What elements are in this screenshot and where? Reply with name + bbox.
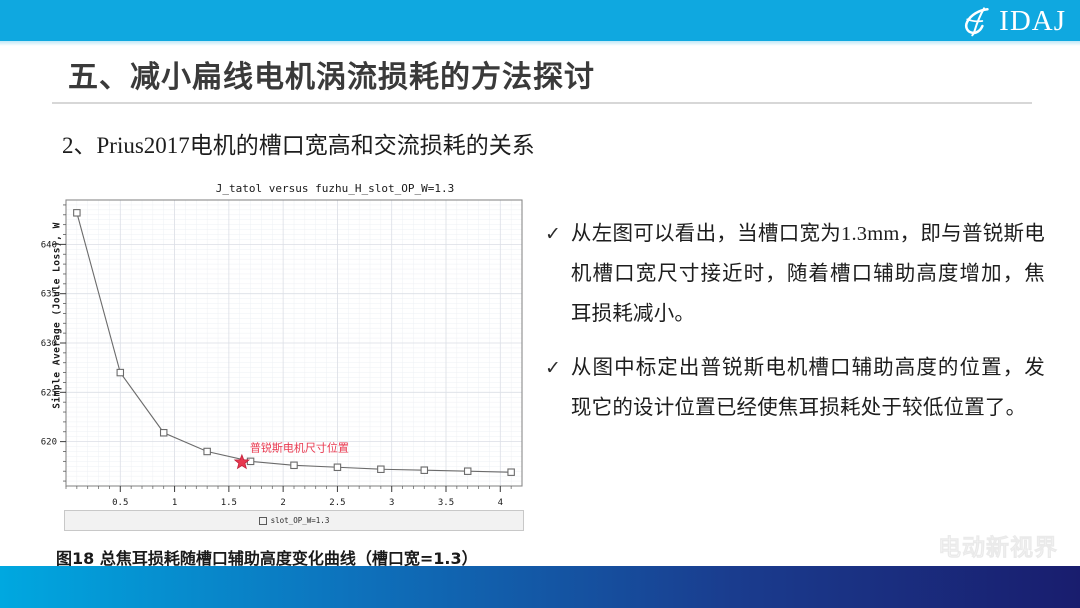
x-tick-label: 2 xyxy=(280,498,285,508)
data-point-marker[interactable] xyxy=(421,467,427,473)
y-tick-label: 625 xyxy=(41,388,57,398)
watermark: 电动新视界 xyxy=(896,530,1058,566)
data-point-marker[interactable] xyxy=(291,462,297,468)
watermark-text: 电动新视界 xyxy=(938,534,1058,562)
chart-title: J_tatol versus fuzhu_H_slot_OP_W=1.3 xyxy=(140,182,530,195)
idaj-logo: IDAJ xyxy=(962,4,1066,38)
data-point-marker[interactable] xyxy=(247,458,253,464)
data-point-marker[interactable] xyxy=(161,430,167,436)
y-tick-label: 640 xyxy=(41,240,57,250)
x-tick-label: 1 xyxy=(172,498,177,508)
bottom-banner xyxy=(0,566,1080,608)
bullet-text: 从图中标定出普锐斯电机槽口辅助高度的位置，发现它的设计位置已经使焦耳损耗处于较低… xyxy=(571,348,1045,428)
y-tick-label: 620 xyxy=(41,438,57,448)
chart-figure: J_tatol versus fuzhu_H_slot_OP_W=1.3 Sim… xyxy=(22,182,530,534)
y-tick-label: 630 xyxy=(41,339,57,349)
x-tick-label: 4 xyxy=(498,498,503,508)
bullet-text: 从左图可以看出，当槽口宽为1.3mm，即与普锐斯电机槽口宽尺寸接近时，随着槽口辅… xyxy=(571,214,1045,334)
chart-legend: slot_OP_W=1.3 xyxy=(64,510,524,531)
check-icon: ✓ xyxy=(545,214,561,254)
page-title: 五、减小扁线电机涡流损耗的方法探讨 xyxy=(68,52,595,96)
slide: IDAJ 五、减小扁线电机涡流损耗的方法探讨 2、Prius2017电机的槽口宽… xyxy=(0,0,1080,608)
section-subtitle: 2、Prius2017电机的槽口宽高和交流损耗的关系 xyxy=(62,126,535,160)
wechat-icon xyxy=(896,534,930,562)
data-point-marker[interactable] xyxy=(334,464,340,470)
list-item: ✓ 从图中标定出普锐斯电机槽口辅助高度的位置，发现它的设计位置已经使焦耳损耗处于… xyxy=(545,348,1045,428)
legend-label: slot_OP_W=1.3 xyxy=(271,516,330,525)
data-point-marker[interactable] xyxy=(204,448,210,454)
list-item: ✓ 从左图可以看出，当槽口宽为1.3mm，即与普锐斯电机槽口宽尺寸接近时，随着槽… xyxy=(545,214,1045,334)
idaj-swoosh-icon xyxy=(962,5,996,37)
bullet-list: ✓ 从左图可以看出，当槽口宽为1.3mm，即与普锐斯电机槽口宽尺寸接近时，随着槽… xyxy=(545,214,1045,442)
check-icon: ✓ xyxy=(545,348,561,388)
x-tick-label: 2.5 xyxy=(329,498,345,508)
x-tick-label: 3.5 xyxy=(438,498,454,508)
idaj-logo-text: IDAJ xyxy=(999,5,1066,37)
data-point-marker[interactable] xyxy=(378,466,384,472)
legend-square-icon xyxy=(259,517,267,525)
top-banner-fade xyxy=(0,41,1080,46)
data-point-marker[interactable] xyxy=(117,369,123,375)
x-tick-label: 3 xyxy=(389,498,394,508)
title-divider xyxy=(52,102,1032,104)
y-tick-label: 635 xyxy=(41,290,57,300)
chart-annotation-label: 普锐斯电机尺寸位置 xyxy=(250,440,349,454)
top-banner xyxy=(0,0,1080,41)
x-tick-label: 1.5 xyxy=(221,498,237,508)
chart-plot-area: 6206256306356400.511.522.533.54fuzhu_H普锐… xyxy=(22,196,530,516)
x-tick-label: 0.5 xyxy=(112,498,128,508)
data-point-marker[interactable] xyxy=(508,469,514,475)
data-point-marker[interactable] xyxy=(74,210,80,216)
data-point-marker[interactable] xyxy=(465,468,471,474)
